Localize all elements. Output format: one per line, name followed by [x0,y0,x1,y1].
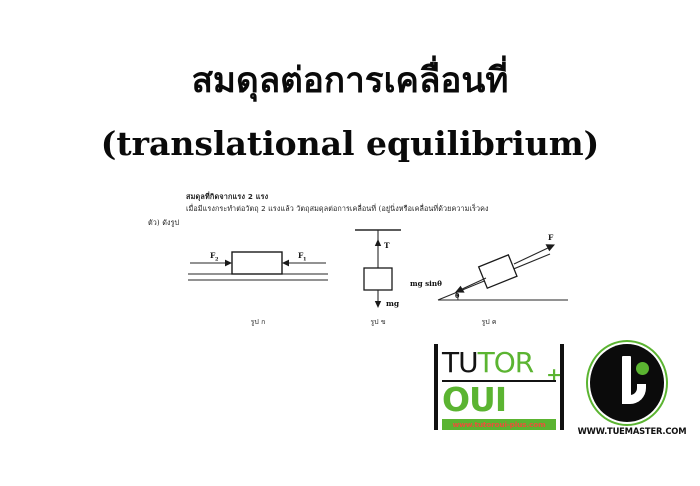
tutoroui-right-bar [560,344,564,430]
figure-a-force-right-subscript: 1 [303,257,306,263]
body-paragraph-line-1: เมื่อมีแรงกระทำต่อวัตถุ 2 แรงแล้ว วัตถุส… [186,204,568,214]
tuemaster-green-dot-icon [636,362,649,375]
figure-c-angle-label: θ [455,292,460,300]
figure-group: F 2 F 1 รูป ก T [148,228,568,328]
figure-c-caption: รูป ค [410,317,568,328]
figure-inclined-plane: F mg sinθ θ รูป ค [410,228,568,328]
body-paragraph-line-2: ตัว) ดังรูป [148,218,568,228]
tutoroui-logo: TUTOR + OUI www.tutoroui-plus.com [434,344,564,430]
body-text-block: สมดุลที่กิดจากแรง 2 แรง เมื่อมีแรงกระทำต… [148,192,568,228]
tutoroui-url[interactable]: www.tutoroui-plus.com [442,419,556,430]
tuemaster-circle-mark [590,344,664,422]
tutoroui-word-oui: OUI [442,382,556,418]
tutoroui-word-tor: TOR [478,346,534,379]
figure-a-drawing: F 2 F 1 [188,228,328,308]
tutoroui-word-tu: TU [442,346,478,379]
figure-c-component-label: mg sinθ [410,279,442,288]
tutoroui-left-bar [434,344,438,430]
page-title-english: (translational equilibrium) [0,126,700,162]
logo-group: TUTOR + OUI www.tutoroui-plus.com WWW.TU… [434,344,688,436]
figure-a-caption: รูป ก [188,317,328,328]
figure-b-tension-label: T [384,241,390,250]
figure-a-force-left-subscript: 2 [215,257,219,263]
tuemaster-logo: WWW.TUEMASTER.COM [576,344,688,436]
figure-b-weight-label: mg [386,299,400,308]
tutoroui-wordmark-top: TUTOR [442,346,556,380]
tuemaster-url[interactable]: WWW.TUEMASTER.COM [576,426,688,436]
slide-canvas: สมดุลต่อการเคลื่อนที่ (translational equ… [0,0,700,486]
body-heading: สมดุลที่กิดจากแรง 2 แรง [186,192,568,202]
figure-c-drawing: F mg sinθ θ [410,228,568,314]
figure-block-two-forces: F 2 F 1 รูป ก [188,228,328,328]
tuemaster-t-hook-icon [622,384,646,404]
page-title-thai: สมดุลต่อการเคลื่อนที่ [0,62,700,101]
figure-c-force-label: F [548,233,554,242]
